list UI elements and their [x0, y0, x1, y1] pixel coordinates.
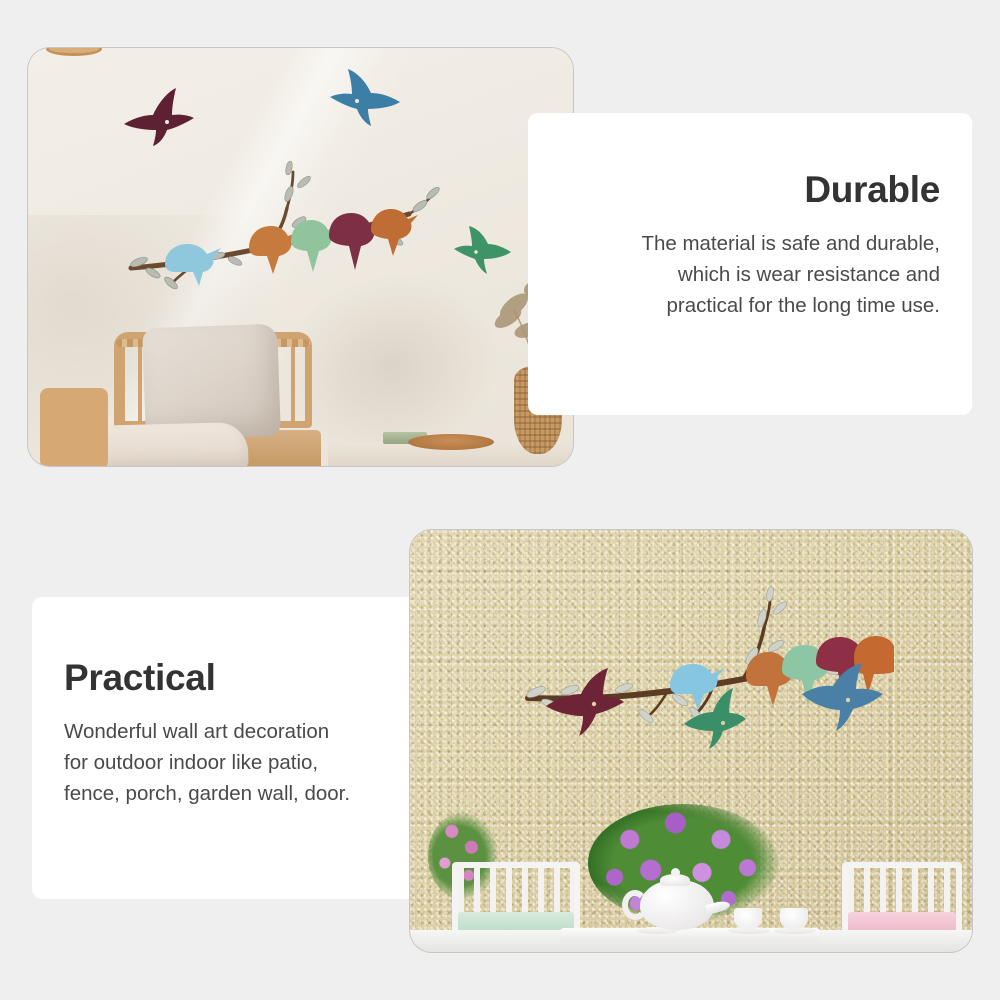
pink-bench-cushion — [848, 912, 956, 932]
flying-bird-blue — [798, 662, 886, 734]
flying-bird-maroon — [544, 666, 626, 740]
interior-scene — [28, 48, 573, 466]
bird-branch-wall-art — [113, 136, 483, 306]
product-photo-garden — [410, 530, 972, 952]
mint-green-bench-cushion — [458, 912, 574, 932]
perched-bird-rust — [371, 209, 418, 256]
flying-bird-maroon — [120, 84, 196, 148]
white-teapot — [640, 880, 714, 930]
feature-card-practical: Practical Wonderful wall art decoration … — [32, 597, 472, 899]
product-photo-interior — [28, 48, 573, 466]
garden-scene — [410, 530, 972, 952]
feature-title-durable: Durable — [528, 171, 940, 210]
perched-bird-light-blue — [165, 244, 221, 286]
white-teacup — [734, 908, 762, 930]
white-garden-bench-right — [842, 862, 962, 934]
flying-bird-green — [682, 688, 748, 750]
flying-bird-blue — [328, 68, 404, 128]
feature-card-durable: Durable The material is safe and durable… — [528, 113, 972, 415]
wooden-tray — [408, 434, 494, 450]
product-feature-collage: Durable The material is safe and durable… — [0, 0, 1000, 1000]
feature-body-durable: The material is safe and durable, which … — [528, 228, 940, 321]
teapot-knob — [671, 868, 680, 877]
white-teacup — [780, 908, 808, 930]
woven-basket — [40, 388, 108, 466]
perched-bird-orange — [249, 226, 299, 274]
white-garden-bench-left — [452, 862, 580, 934]
